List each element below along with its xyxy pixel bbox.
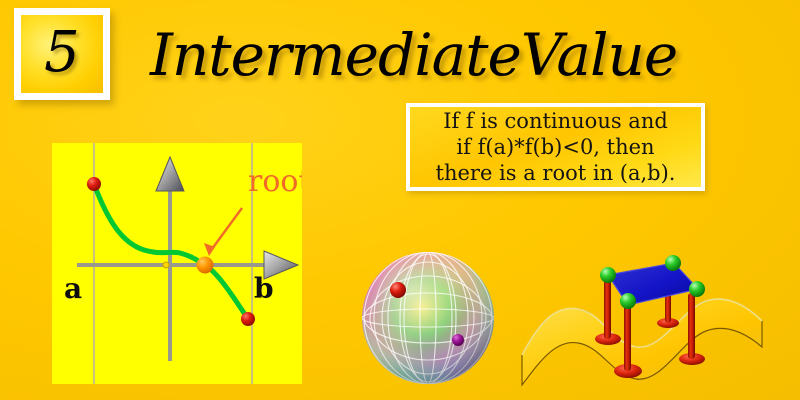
curve-endpoint-b bbox=[241, 312, 255, 326]
rod-4 bbox=[688, 293, 695, 359]
wavy-surface-svg bbox=[516, 243, 766, 400]
y-axis-arrowhead-icon bbox=[156, 157, 184, 191]
rod-1 bbox=[604, 279, 611, 339]
graph-panel: root a b bbox=[52, 143, 302, 384]
statement-line-2: if f(a)*f(b)<0, then bbox=[456, 134, 654, 160]
graph-label-a: a bbox=[64, 272, 82, 305]
graph-label-b: b bbox=[254, 272, 274, 305]
plane-node-1 bbox=[600, 267, 616, 283]
plane-node-4 bbox=[620, 293, 636, 309]
statement-line-1: If f is continuous and bbox=[443, 108, 668, 134]
root-point-marker bbox=[197, 257, 214, 274]
slide-number-badge-fill: 5 bbox=[21, 15, 103, 93]
rainbow-sphere-figure bbox=[352, 244, 504, 394]
slide-number-badge: 5 bbox=[14, 8, 110, 100]
statement-line-3: there is a root in (a,b). bbox=[436, 160, 676, 186]
root-arrowhead-icon bbox=[204, 243, 215, 256]
curve-endpoint-a bbox=[87, 177, 101, 191]
sphere-shading bbox=[362, 252, 494, 384]
slide-canvas: 5 IntermediateValue bbox=[0, 0, 800, 400]
root-annotation-arrow bbox=[209, 208, 242, 253]
page-title: IntermediateValue bbox=[150, 12, 750, 98]
origin-marker bbox=[163, 262, 169, 268]
graph-svg: root a b bbox=[52, 143, 302, 384]
theorem-statement-fill: If f is continuous and if f(a)*f(b)<0, t… bbox=[410, 107, 701, 187]
rod-3 bbox=[624, 301, 631, 371]
theorem-statement-box: If f is continuous and if f(a)*f(b)<0, t… bbox=[406, 103, 705, 191]
graph-label-root: root bbox=[248, 164, 302, 199]
plane-node-2 bbox=[665, 255, 681, 271]
sphere-marker-purple bbox=[452, 334, 464, 346]
slide-number-text: 5 bbox=[21, 25, 103, 81]
plane-node-3 bbox=[689, 281, 705, 297]
rainbow-sphere-svg bbox=[352, 244, 504, 394]
wavy-surface-figure bbox=[516, 243, 766, 400]
sphere-marker-red bbox=[390, 282, 406, 298]
